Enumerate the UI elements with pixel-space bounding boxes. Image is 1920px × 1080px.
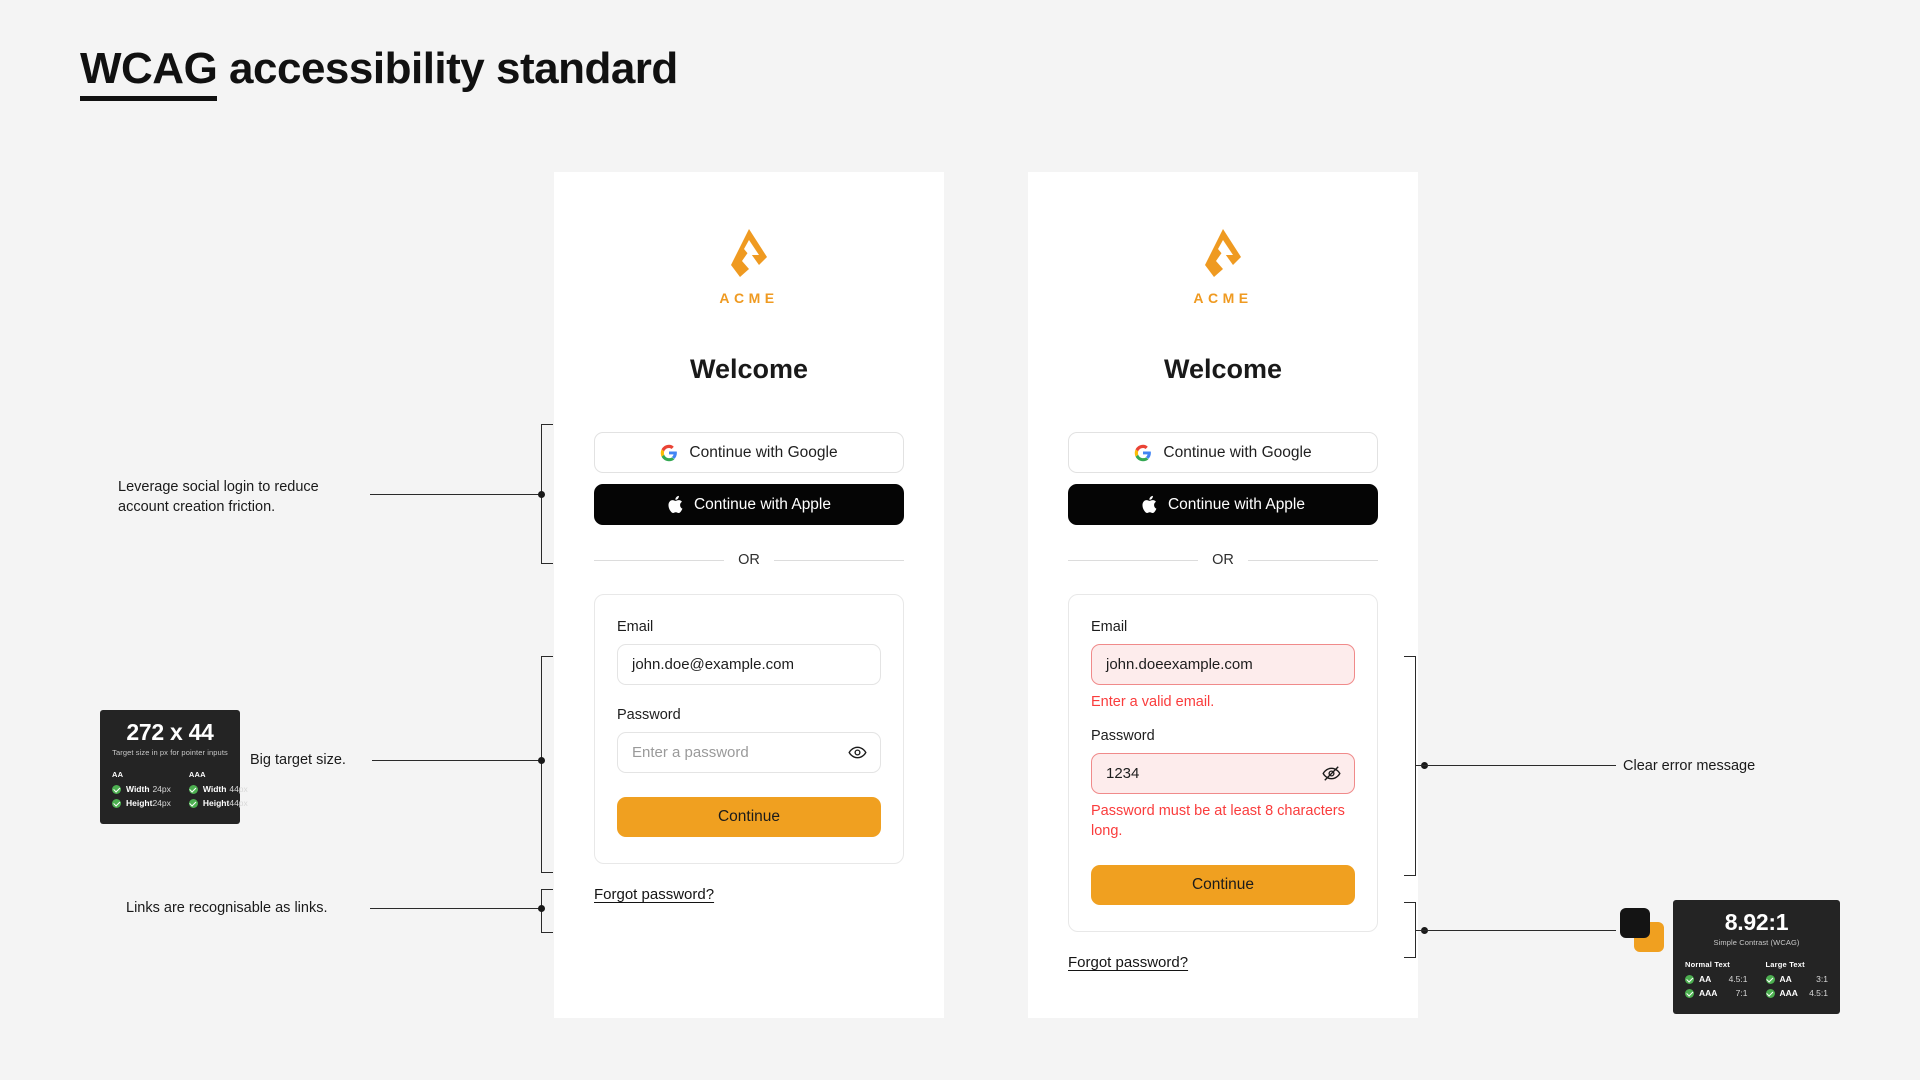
continue-button[interactable]: Continue [1091, 865, 1355, 905]
row-label: Height [126, 798, 152, 808]
annotation-bracket-contrast [1404, 902, 1416, 958]
google-button-label: Continue with Google [689, 444, 837, 462]
check-icon [1766, 975, 1775, 984]
col-head: AA [112, 770, 171, 779]
password-label: Password [1091, 728, 1355, 744]
google-icon [1134, 444, 1152, 462]
apple-icon [667, 495, 683, 514]
annotation-bracket-target [541, 656, 553, 873]
row-value: 24px [152, 798, 170, 808]
login-card-error: ACME Welcome Continue with Google [1028, 172, 1418, 1018]
credentials-form: Email john.doeexample.com Enter a valid … [1068, 594, 1378, 932]
email-label: Email [617, 619, 881, 635]
apple-button-label: Continue with Apple [694, 496, 831, 514]
contrast-col-normal: Normal Text AA 4.5:1 AAA 7:1 [1685, 960, 1748, 1002]
annotation-leader-target [372, 760, 541, 761]
email-label: Email [1091, 619, 1355, 635]
row-value: 44px [229, 798, 247, 808]
credentials-form: Email john.doe@example.com Password Ente… [594, 594, 904, 864]
password-input[interactable]: 1234 [1091, 753, 1355, 794]
contrast-color-swatches [1620, 908, 1666, 954]
toggle-password-visibility-button[interactable] [846, 742, 868, 764]
annotation-error-message: Clear error message [1623, 757, 1843, 777]
password-placeholder: Enter a password [632, 744, 749, 761]
row-value: 4.5:1 [1809, 988, 1828, 998]
continue-with-apple-button[interactable]: Continue with Apple [1068, 484, 1378, 525]
row-label: AAA [1699, 988, 1717, 998]
social-login-group: Continue with Google Continue with Apple [594, 432, 904, 525]
apple-icon [1141, 495, 1157, 514]
col-head: AAA [189, 770, 248, 779]
continue-button[interactable]: Continue [617, 797, 881, 837]
divider-line-left [594, 560, 724, 561]
acme-diamond-logo-icon [1200, 227, 1246, 279]
brand-logo: ACME [594, 227, 904, 306]
badge-row: AAA 7:1 [1685, 988, 1748, 998]
annotation-leader-contrast [1416, 930, 1616, 931]
welcome-heading: Welcome [594, 354, 904, 385]
google-button-label: Continue with Google [1163, 444, 1311, 462]
welcome-heading: Welcome [1068, 354, 1378, 385]
brand-name: ACME [719, 290, 778, 306]
row-label: AA [1699, 974, 1711, 984]
password-label: Password [617, 707, 881, 723]
check-icon [112, 785, 121, 794]
row-value: 44px [229, 784, 247, 794]
continue-with-google-button[interactable]: Continue with Google [594, 432, 904, 473]
spacer [1091, 712, 1355, 728]
row-value: 4.5:1 [1729, 974, 1748, 984]
social-login-group: Continue with Google Continue with Apple [1068, 432, 1378, 525]
target-size-col-aa: AA Width 24px Height 24px [112, 770, 171, 812]
divider-line-right [774, 560, 904, 561]
forgot-password-link[interactable]: Forgot password? [1068, 954, 1378, 971]
email-input[interactable]: john.doeexample.com [1091, 644, 1355, 685]
email-error-message: Enter a valid email. [1091, 693, 1355, 712]
annotation-dot-social [538, 491, 545, 498]
eye-icon [848, 743, 867, 762]
row-value: 3:1 [1816, 974, 1828, 984]
page-title-emphasis: WCAG [80, 44, 217, 101]
continue-with-apple-button[interactable]: Continue with Apple [594, 484, 904, 525]
badge-row: Height 44px [189, 798, 248, 808]
annotation-leader-social [370, 494, 541, 495]
badge-row: AA 3:1 [1766, 974, 1829, 984]
contrast-ratio-badge: 8.92:1 Simple Contrast (WCAG) Normal Tex… [1673, 900, 1840, 1014]
or-divider: OR [1068, 552, 1378, 568]
check-icon [1766, 989, 1775, 998]
annotation-leader-links [370, 908, 541, 909]
eye-off-icon [1322, 764, 1341, 783]
contrast-subtitle: Simple Contrast (WCAG) [1685, 938, 1828, 947]
target-size-columns: AA Width 24px Height 24px AAA Width 44px [112, 770, 228, 812]
swatch-dark [1620, 908, 1650, 938]
annotation-links: Links are recognisable as links. [126, 899, 366, 919]
annotation-dot-target [538, 757, 545, 764]
col-head: Normal Text [1685, 960, 1748, 969]
divider-line-right [1248, 560, 1378, 561]
badge-row: AAA 4.5:1 [1766, 988, 1829, 998]
or-divider: OR [594, 552, 904, 568]
divider-label: OR [1212, 552, 1234, 568]
canvas: WCAG accessibility standard ACME Welcome [0, 0, 1920, 1080]
brand-logo: ACME [1068, 227, 1378, 306]
login-card-valid: ACME Welcome Continue with Google [554, 172, 944, 1018]
target-size-badge: 272 x 44 Target size in px for pointer i… [100, 710, 240, 824]
badge-row: AA 4.5:1 [1685, 974, 1748, 984]
page-title: WCAG accessibility standard [80, 44, 678, 94]
badge-row: Height 24px [112, 798, 171, 808]
row-value: 7:1 [1736, 988, 1748, 998]
annotation-leader-error [1416, 765, 1616, 766]
password-error-message: Password must be at least 8 characters l… [1091, 802, 1355, 841]
annotation-dot-links [538, 905, 545, 912]
row-label: AAA [1780, 988, 1798, 998]
divider-line-left [1068, 560, 1198, 561]
check-icon [1685, 975, 1694, 984]
continue-with-google-button[interactable]: Continue with Google [1068, 432, 1378, 473]
target-size-col-aaa: AAA Width 44px Height 44px [189, 770, 248, 812]
row-label: Width [126, 784, 150, 794]
row-value: 24px [152, 784, 170, 794]
contrast-value: 8.92:1 [1685, 910, 1828, 935]
toggle-password-visibility-button[interactable] [1320, 763, 1342, 785]
target-size-value: 272 x 44 [112, 720, 228, 745]
forgot-password-link[interactable]: Forgot password? [594, 886, 904, 903]
acme-diamond-logo-icon [726, 227, 772, 279]
contrast-col-large: Large Text AA 3:1 AAA 4.5:1 [1766, 960, 1829, 1002]
check-icon [112, 799, 121, 808]
spacer [617, 685, 881, 707]
contrast-columns: Normal Text AA 4.5:1 AAA 7:1 Large Text … [1685, 960, 1828, 1002]
col-head: Large Text [1766, 960, 1829, 969]
password-input[interactable]: Enter a password [617, 732, 881, 773]
annotation-bracket-error [1404, 656, 1416, 876]
password-value: 1234 [1106, 765, 1139, 782]
check-icon [1685, 989, 1694, 998]
annotation-social-login: Leverage social login to reduce account … [118, 478, 358, 517]
brand-name: ACME [1193, 290, 1252, 306]
badge-row: Width 44px [189, 784, 248, 794]
check-icon [189, 799, 198, 808]
target-size-subtitle: Target size in px for pointer inputs [112, 748, 228, 757]
row-label: Width [203, 784, 227, 794]
email-input[interactable]: john.doe@example.com [617, 644, 881, 685]
google-icon [660, 444, 678, 462]
page-title-rest: accessibility standard [217, 44, 678, 93]
apple-button-label: Continue with Apple [1168, 496, 1305, 514]
badge-row: Width 24px [112, 784, 171, 794]
row-label: AA [1780, 974, 1792, 984]
check-icon [189, 785, 198, 794]
divider-label: OR [738, 552, 760, 568]
row-label: Height [203, 798, 229, 808]
